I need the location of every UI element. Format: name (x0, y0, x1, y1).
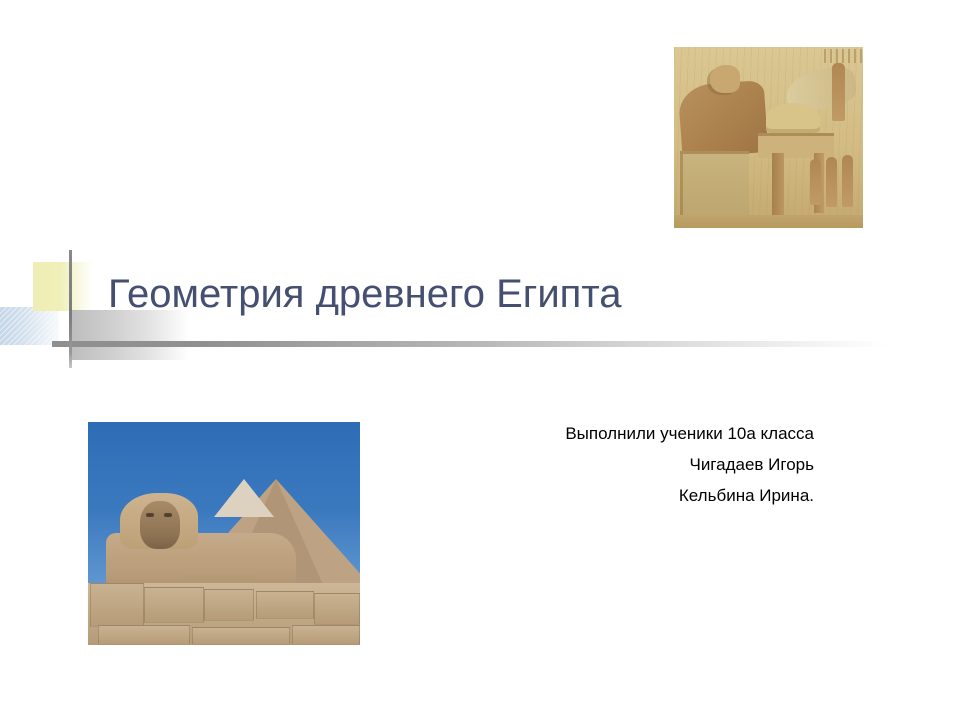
egyptian-relief-image (674, 47, 863, 228)
sphinx-eye-right (164, 513, 172, 517)
stone-block (314, 593, 360, 625)
sphinx-pyramid-image (88, 422, 360, 645)
slide-body-text: Выполнили ученики 10а класса Чигадаев Иг… (400, 418, 814, 511)
slide-title: Геометрия древнего Египта (108, 270, 868, 318)
pyramid-casing-cap (214, 479, 274, 517)
body-line-author-1: Чигадаев Игорь (400, 449, 814, 480)
ornament-vertical-rule (69, 250, 72, 368)
presentation-slide: Геометрия древнего Египта Выполнили учен… (0, 0, 960, 720)
stone-block (204, 589, 254, 621)
relief-small-figure-3 (842, 155, 853, 207)
stone-block (144, 587, 204, 623)
stone-block (256, 591, 314, 619)
relief-chair (680, 151, 749, 216)
relief-offering-pile (766, 103, 820, 133)
stone-block (192, 627, 290, 645)
body-line-author-2: Кельбина Ирина. (400, 480, 814, 511)
ornament-blue-block (0, 307, 59, 345)
relief-small-figure-2 (826, 157, 837, 207)
body-line-authors-intro: Выполнили ученики 10а класса (400, 418, 814, 449)
sphinx-eye-left (146, 513, 154, 517)
relief-standing-attendant (832, 63, 845, 121)
relief-figure-head (710, 65, 740, 93)
stone-block (98, 625, 190, 645)
relief-table-leg-left (772, 153, 784, 217)
ornament-horizontal-rule (52, 341, 887, 347)
relief-hieroglyph-band (824, 49, 862, 63)
relief-small-figure-1 (810, 159, 821, 205)
sphinx-face (140, 501, 180, 549)
relief-ground-line (674, 215, 863, 228)
ornament-yellow-block (33, 262, 93, 311)
stone-block (90, 583, 144, 627)
stone-block (292, 625, 360, 645)
